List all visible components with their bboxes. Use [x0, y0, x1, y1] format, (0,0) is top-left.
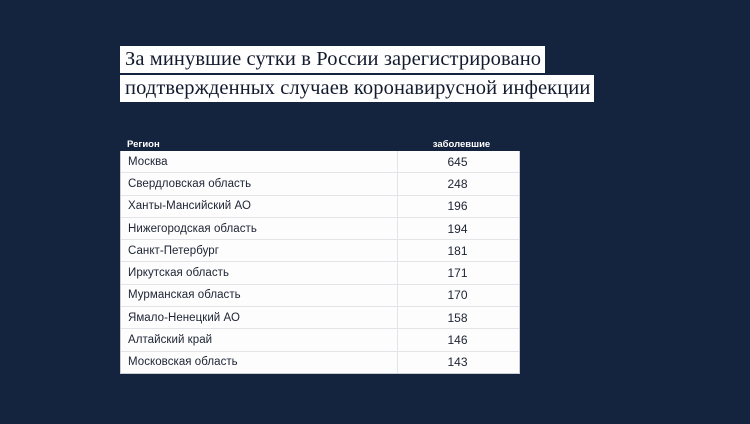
title-line-1: За минувшие сутки в России зарегистриров…: [120, 46, 545, 73]
cell-cases: 158: [398, 307, 519, 328]
cell-cases: 170: [398, 285, 519, 306]
slide-canvas: За минувшие сутки в России зарегистриров…: [0, 0, 750, 424]
table-row: Ханты-Мансийский АО 196: [121, 196, 519, 218]
cell-cases: 645: [398, 151, 519, 172]
table-row: Мурманская область 170: [121, 285, 519, 307]
column-header-region: Регион: [120, 139, 405, 151]
cell-cases: 181: [398, 240, 519, 261]
cell-cases: 146: [398, 329, 519, 350]
table-body: Москва 645 Свердловская область 248 Хант…: [120, 151, 520, 374]
cell-region: Нижегородская область: [121, 218, 398, 239]
column-header-cases: заболевшие: [405, 139, 520, 151]
table-row: Иркутская область 171: [121, 262, 519, 284]
cell-region: Алтайский край: [121, 329, 398, 350]
cell-region: Московская область: [121, 352, 398, 373]
cell-region: Свердловская область: [121, 173, 398, 194]
table-row: Московская область 143: [121, 352, 519, 373]
cases-table: Регион заболевшие Москва 645 Свердловска…: [120, 133, 520, 374]
cell-region: Санкт-Петербург: [121, 240, 398, 261]
table-row: Санкт-Петербург 181: [121, 240, 519, 262]
cell-region: Ямало-Ненецкий АО: [121, 307, 398, 328]
table-row: Свердловская область 248: [121, 173, 519, 195]
table-row: Ямало-Ненецкий АО 158: [121, 307, 519, 329]
table-row: Москва 645: [121, 151, 519, 173]
table-row: Алтайский край 146: [121, 329, 519, 351]
cell-cases: 171: [398, 262, 519, 283]
cell-region: Иркутская область: [121, 262, 398, 283]
cell-cases: 194: [398, 218, 519, 239]
cell-cases: 196: [398, 196, 519, 217]
cell-region: Ханты-Мансийский АО: [121, 196, 398, 217]
cell-region: Москва: [121, 151, 398, 172]
title-line-2: подтвержденных случаев коронавирусной ин…: [120, 75, 594, 102]
cell-cases: 143: [398, 352, 519, 373]
cell-cases: 248: [398, 173, 519, 194]
table-row: Нижегородская область 194: [121, 218, 519, 240]
page-title: За минувшие сутки в России зарегистриров…: [120, 46, 660, 102]
title-line-1-wrap: За минувшие сутки в России зарегистриров…: [120, 46, 660, 73]
table-header-row: Регион заболевшие: [120, 133, 520, 151]
title-line-2-wrap: подтвержденных случаев коронавирусной ин…: [120, 75, 660, 102]
cell-region: Мурманская область: [121, 285, 398, 306]
